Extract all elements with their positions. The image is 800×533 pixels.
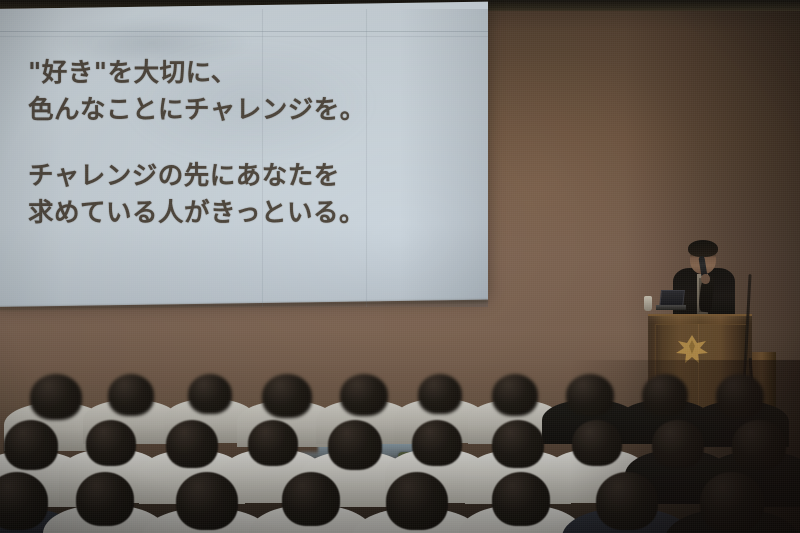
audience-member-head [76, 472, 134, 526]
audience-member-head [176, 472, 238, 530]
audience-member-head [596, 472, 658, 530]
laptop-on-podium [656, 290, 686, 312]
audience-member-head [700, 472, 764, 532]
audience-row [0, 360, 800, 533]
laptop-keyboard [656, 305, 686, 310]
projection-screen: "好き"を大切に、 色んなことにチャレンジを。 チャレンジの先にあなたを 求めて… [0, 2, 488, 307]
projection-screen-surface: "好き"を大切に、 色んなことにチャレンジを。 チャレンジの先にあなたを 求めて… [0, 9, 488, 307]
audience-member-head [0, 472, 48, 530]
audience-member-head [492, 472, 550, 526]
audience-member-head [386, 472, 448, 530]
audience-member-head [282, 472, 340, 526]
paper-cup [644, 296, 652, 311]
screenshot-stage: "好き"を大切に、 色んなことにチャレンジを。 チャレンジの先にあなたを 求めて… [0, 0, 800, 533]
presenter-hair [688, 240, 718, 257]
screen-vignette [0, 9, 488, 307]
audience-area [0, 360, 800, 533]
presenter-hand [701, 274, 710, 284]
